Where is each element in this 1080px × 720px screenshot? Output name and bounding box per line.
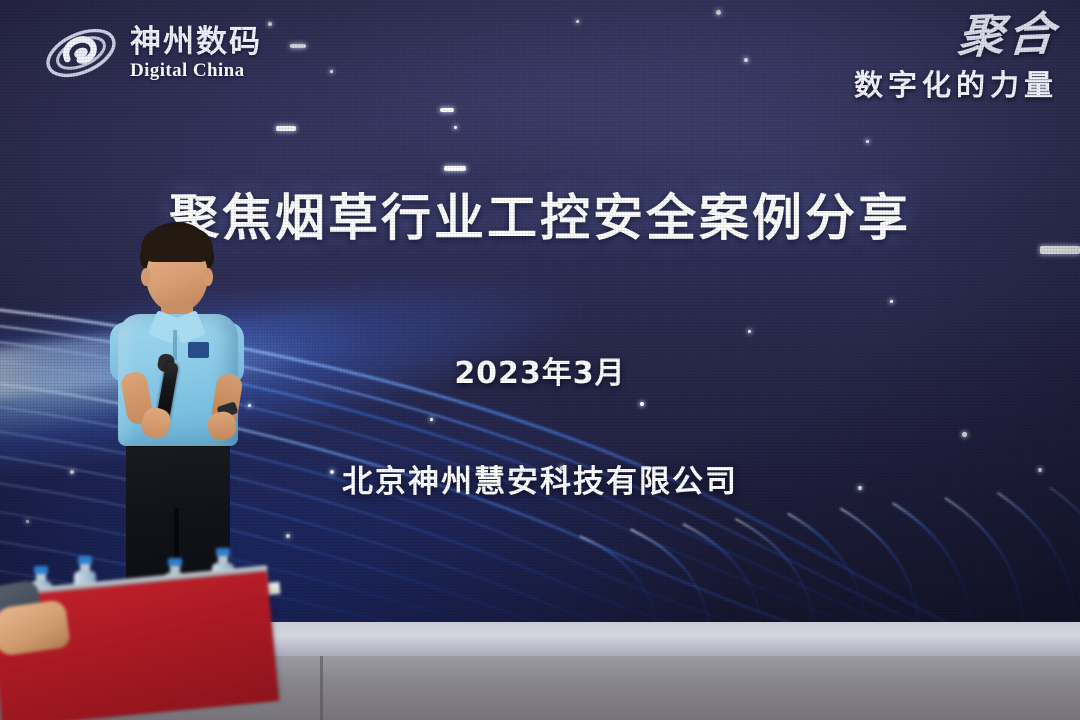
light-particle xyxy=(962,432,967,437)
brand-name-cn: 神州数码 xyxy=(130,27,262,58)
speaker-ear-right xyxy=(203,268,213,286)
light-particle xyxy=(866,140,869,143)
light-streak xyxy=(276,126,296,131)
speaker-shirt-placket xyxy=(173,330,177,360)
light-particle xyxy=(330,70,333,73)
brand-logo-text: 神州数码 Digital China xyxy=(130,27,262,80)
bottle-neck xyxy=(170,566,180,573)
light-streak xyxy=(440,108,454,112)
light-particle xyxy=(430,418,433,421)
floor-seam xyxy=(320,656,323,720)
bottle-neck xyxy=(218,556,228,563)
light-particle xyxy=(744,58,748,62)
slogan-subtitle: 数字化的力量 xyxy=(854,62,1058,104)
bottle-cap xyxy=(216,548,230,556)
bottle-cap xyxy=(34,566,48,574)
light-streak xyxy=(444,166,466,171)
bottle-cap xyxy=(78,556,92,564)
conference-photo-scene: 神州数码 Digital China 聚合 数字化的力量 聚焦烟草行业工控安全案… xyxy=(0,0,1080,720)
bottle-neck xyxy=(36,574,46,581)
light-particle xyxy=(286,534,290,538)
event-slogan: 聚合 数字化的力量 xyxy=(854,12,1058,104)
brand-name-en: Digital China xyxy=(130,61,262,80)
light-particle xyxy=(640,402,644,406)
light-particle xyxy=(268,22,272,26)
bottle-neck xyxy=(80,564,90,571)
light-particle xyxy=(454,126,457,129)
light-streak xyxy=(290,44,306,48)
light-particle xyxy=(576,20,579,23)
shirt-chest-logo-icon xyxy=(188,342,209,358)
speaker-hair-front xyxy=(141,228,213,262)
brand-logo: 神州数码 Digital China xyxy=(42,18,262,88)
light-particle xyxy=(890,300,893,303)
bottle-cap xyxy=(168,558,182,566)
light-particle xyxy=(748,330,751,333)
speaker-ear-left xyxy=(141,268,151,286)
slogan-calligraphy: 聚合 xyxy=(956,10,1060,59)
galaxy-swirl-icon xyxy=(42,18,120,88)
light-particle xyxy=(26,520,29,523)
light-streak xyxy=(716,10,721,15)
